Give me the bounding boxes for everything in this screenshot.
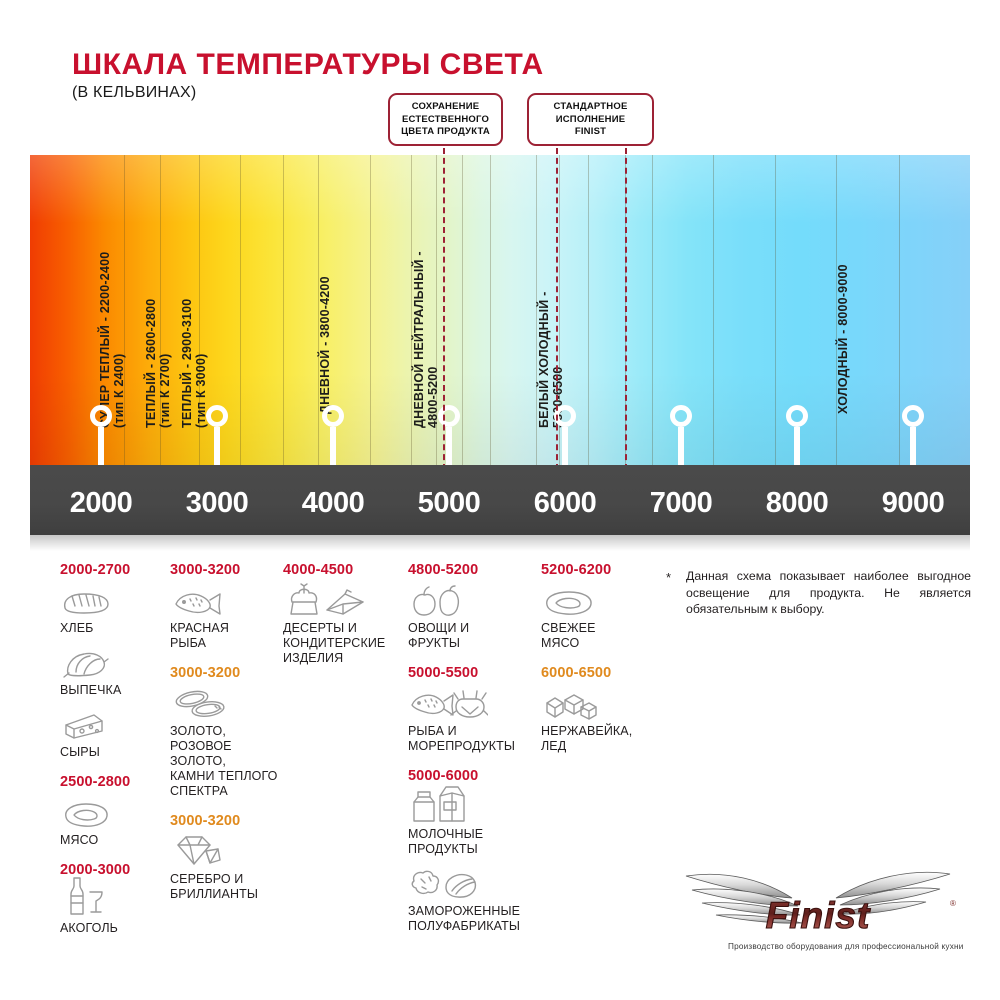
product-column-3: 4000-4500 ДЕСЕРТЫ ИКОНДИТЕРСКИЕИЗДЕЛИЯ [283,562,395,680]
scale-divider [775,155,776,465]
temperature-range-label: 6000-6500 [541,665,651,681]
product-item-label: НЕРЖАВЕЙКА,ЛЕД [541,724,651,754]
kelvin-tick-2000: 2000 [70,487,133,520]
callout-line: FINIST [533,126,648,139]
finist-wings-icon: Finist ® [668,862,968,944]
scale-divider [588,155,589,465]
product-item: ДЕСЕРТЫ ИКОНДИТЕРСКИЕИЗДЕЛИЯ [283,584,395,666]
product-item-label: ОВОЩИ ИФРУКТЫ [408,621,533,651]
callout-box-1: СОХРАНЕНИЕЕСТЕСТВЕННОГОЦВЕТА ПРОДУКТА [388,93,503,146]
frozen-food-icon [408,867,533,901]
infographic-root: ШКАЛА ТЕМПЕРАТУРЫ СВЕТА (В КЕЛЬВИНАХ) СО… [0,0,1000,1000]
temperature-range-label: 4000-4500 [283,562,395,578]
red-fish-icon [170,584,278,618]
callout-line: ЕСТЕСТВЕННОГО [394,114,497,127]
callout-box-2: СТАНДАРТНОЕИСПОЛНЕНИЕFINIST [527,93,654,146]
diamond-icon [170,835,278,869]
product-item: ОВОЩИ ИФРУКТЫ [408,584,533,651]
temperature-range-label: 3000-3200 [170,562,278,578]
seafood-icon [408,687,533,721]
kelvin-tick-6000: 6000 [534,487,597,520]
footnote: * Данная схема показывает наиболее выгод… [666,568,971,618]
footnote-text: Данная схема показывает наиболее выгодно… [686,568,971,618]
product-group: 4000-4500 ДЕСЕРТЫ ИКОНДИТЕРСКИЕИЗДЕЛИЯ [283,562,395,666]
scale-label-main: ХОЛОДНЫЙ - 8000-9000 [836,264,850,414]
scale-divider [283,155,284,465]
product-item: ЗОЛОТО,РОЗОВОЕ ЗОЛОТО,КАМНИ ТЕПЛОГОСПЕКТ… [170,687,278,799]
scale-label-main: ДНЕВНОЙ - 3800-4200 [318,276,332,414]
product-item-label: ЗАМОРОЖЕННЫЕПОЛУФАБРИКАТЫ [408,904,533,934]
product-group: 3000-3200 ЗОЛОТО,РОЗОВОЕ ЗОЛОТО,КАМНИ ТЕ… [170,665,278,799]
scale-label-1: СУПЕР ТЕПЛЫЙ - 2200-2400(тип К 2400) [98,252,126,428]
product-item-label: ХЛЕБ [60,621,165,636]
fresh-meat-icon [541,584,651,618]
marker-ring-icon [206,405,228,427]
scale-label-sub: (тип К 2400) [112,252,126,428]
callout-line: ЦВЕТА ПРОДУКТА [394,126,497,139]
marker-ring-icon [322,405,344,427]
dashed-guide-1 [443,148,445,470]
scale-divider [490,155,491,465]
scale-divider [240,155,241,465]
scale-label-5: ДНЕВНОЙ НЕЙТРАЛЬНЫЙ -4800-5200 [412,251,440,428]
page-title: ШКАЛА ТЕМПЕРАТУРЫ СВЕТА [72,48,544,82]
product-column-1: 2000-2700 ХЛЕБ ВЫПЕЧКА СЫРЫ2500-2800 МЯС… [60,562,165,950]
meat-icon [60,796,165,830]
product-item: СЫРЫ [60,708,165,760]
product-item: ХЛЕБ [60,584,165,636]
marker-ring-icon [786,405,808,427]
gold-rings-icon [170,687,278,721]
product-item: СЕРЕБРО ИБРИЛЛИАНТЫ [170,835,278,902]
product-group: 3000-3200 СЕРЕБРО ИБРИЛЛИАНТЫ [170,813,278,902]
product-item: СВЕЖЕЕМЯСО [541,584,651,651]
callout-line: ИСПОЛНЕНИЕ [533,114,648,127]
alcohol-icon [60,884,165,918]
scale-label-main: СУПЕР ТЕПЛЫЙ - 2200-2400 [98,252,112,428]
pastry-icon [60,646,165,680]
product-group: 4800-5200 ОВОЩИ ИФРУКТЫ [408,562,533,651]
dashed-guide-2 [556,148,558,470]
product-group: 5000-5500 РЫБА ИМОРЕПРОДУКТЫ [408,665,533,754]
scale-label-sub: 4800-5200 [426,251,440,428]
product-group: 5200-6200 СВЕЖЕЕМЯСО [541,562,651,651]
product-item-label: СЕРЕБРО ИБРИЛЛИАНТЫ [170,872,278,902]
kelvin-tick-3000: 3000 [186,487,249,520]
marker-ring-icon [438,405,460,427]
scale-label-4: ДНЕВНОЙ - 3800-4200 [318,276,332,414]
finist-logo: Finist ® Производство оборудования для п… [668,862,968,960]
scale-divider [652,155,653,465]
scale-label-7: ХОЛОДНЫЙ - 8000-9000 [836,264,850,414]
product-item: ВЫПЕЧКА [60,646,165,698]
kelvin-number-bar: 20003000400050006000700080009000 [30,465,970,535]
marker-ring-icon [670,405,692,427]
callout-line: СТАНДАРТНОЕ [533,101,648,114]
ice-icon [541,687,651,721]
temperature-range-label: 2500-2800 [60,774,165,790]
svg-text:®: ® [950,899,956,908]
kelvin-tick-9000: 9000 [882,487,945,520]
temperature-range-label: 3000-3200 [170,813,278,829]
scale-divider [899,155,900,465]
temperature-range-label: 4800-5200 [408,562,533,578]
product-item: АКОГОЛЬ [60,884,165,936]
product-group: 3000-3200 КРАСНАЯРЫБА [170,562,278,651]
product-item-label: ВЫПЕЧКА [60,683,165,698]
product-item: ЗАМОРОЖЕННЫЕПОЛУФАБРИКАТЫ [408,867,533,934]
marker-ring-icon [90,405,112,427]
product-group: 2500-2800 МЯСО [60,774,165,848]
product-item-label: КРАСНАЯРЫБА [170,621,278,651]
product-column-5: 5200-6200 СВЕЖЕЕМЯСО6000-6500 НЕРЖАВЕЙКА… [541,562,651,768]
callout-line: СОХРАНЕНИЕ [394,101,497,114]
dairy-icon [408,790,533,824]
scale-divider [370,155,371,465]
temperature-range-label: 3000-3200 [170,665,278,681]
product-item-label: МОЛОЧНЫЕ ПРОДУКТЫ [408,827,533,857]
product-item-label: СЫРЫ [60,745,165,760]
kelvin-tick-5000: 5000 [418,487,481,520]
kelvin-tick-7000: 7000 [650,487,713,520]
product-item-label: АКОГОЛЬ [60,921,165,936]
dashed-guide-3 [625,148,627,470]
marker-ring-icon [902,405,924,427]
product-group: 2000-2700 ХЛЕБ ВЫПЕЧКА СЫРЫ [60,562,165,760]
product-column-2: 3000-3200 КРАСНАЯРЫБА3000-3200 ЗОЛОТО,РО… [170,562,278,916]
temperature-range-label: 5200-6200 [541,562,651,578]
temperature-range-label: 5000-5500 [408,665,533,681]
vegetables-icon [408,584,533,618]
dessert-icon [283,584,395,618]
scale-label-2: ТЕПЛЫЙ - 2600-2800(тип К 2700) [144,299,172,428]
temperature-range-label: 5000-6000 [408,768,533,784]
scale-divider [462,155,463,465]
scale-label-main: БЕЛЫЙ ХОЛОДНЫЙ - [537,291,551,428]
kelvin-tick-4000: 4000 [302,487,365,520]
product-item-label: ДЕСЕРТЫ ИКОНДИТЕРСКИЕИЗДЕЛИЯ [283,621,395,666]
scale-label-main: ТЕПЛЫЙ - 2900-3100 [180,299,194,428]
numbar-shadow [30,535,970,551]
footnote-star: * [666,569,671,587]
scale-divider [713,155,714,465]
bread-icon [60,584,165,618]
product-item: НЕРЖАВЕЙКА,ЛЕД [541,687,651,754]
product-item-label: РЫБА ИМОРЕПРОДУКТЫ [408,724,533,754]
product-item: КРАСНАЯРЫБА [170,584,278,651]
page-subtitle: (В КЕЛЬВИНАХ) [72,84,196,102]
product-item: РЫБА ИМОРЕПРОДУКТЫ [408,687,533,754]
scale-label-main: ТЕПЛЫЙ - 2600-2800 [144,299,158,428]
temperature-scale: СУПЕР ТЕПЛЫЙ - 2200-2400(тип К 2400)ТЕПЛ… [30,155,970,465]
product-group: 2000-3000 АКОГОЛЬ [60,862,165,936]
scale-label-sub: (тип К 2700) [158,299,172,428]
svg-text:Finist: Finist [766,895,871,936]
product-group: 5000-6000 МОЛОЧНЫЕ ПРОДУКТЫ ЗАМОРОЖЕННЫЕ… [408,768,533,934]
product-item-label: СВЕЖЕЕМЯСО [541,621,651,651]
product-item-label: МЯСО [60,833,165,848]
temperature-range-label: 2000-2700 [60,562,165,578]
cheese-icon [60,708,165,742]
product-item: МОЛОЧНЫЕ ПРОДУКТЫ [408,790,533,857]
logo-tagline: Производство оборудования для профессион… [728,942,964,951]
product-item-label: ЗОЛОТО,РОЗОВОЕ ЗОЛОТО,КАМНИ ТЕПЛОГОСПЕКТ… [170,724,278,799]
kelvin-tick-8000: 8000 [766,487,829,520]
scale-label-main: ДНЕВНОЙ НЕЙТРАЛЬНЫЙ - [412,251,426,428]
product-group: 6000-6500 НЕРЖАВЕЙКА,ЛЕД [541,665,651,754]
scale-label-3: ТЕПЛЫЙ - 2900-3100(тип К 3000) [180,299,208,428]
product-item: МЯСО [60,796,165,848]
product-column-4: 4800-5200 ОВОЩИ ИФРУКТЫ5000-5500 РЫБА ИМ… [408,562,533,948]
